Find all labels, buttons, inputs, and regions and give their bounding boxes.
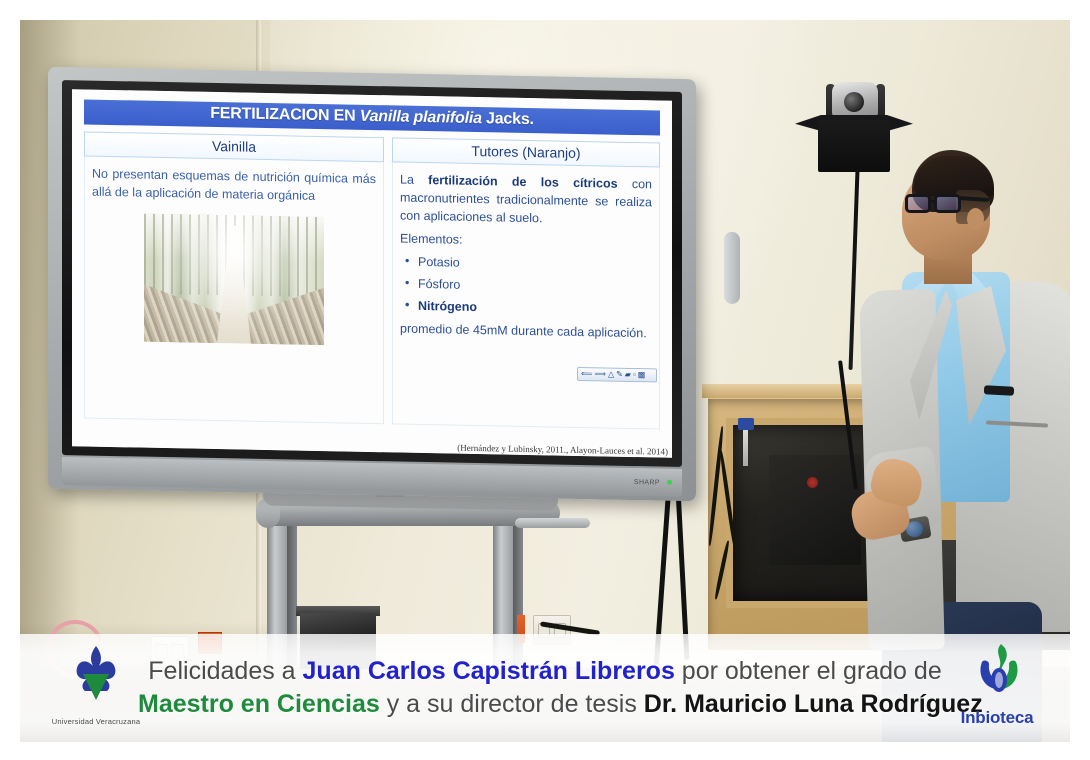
glasses-bridge <box>930 200 936 203</box>
banner-line-1: Felicidades a Juan Carlos Capistrán Libr… <box>138 655 952 688</box>
advisor-name: Dr. Mauricio Luna Rodríguez <box>644 690 983 718</box>
bullet-item: Fósforo <box>400 274 652 297</box>
vanilla-plantation-photo <box>144 214 324 345</box>
pen-icon[interactable]: ✎ <box>616 371 623 379</box>
bullet-item: Potasio <box>400 252 652 275</box>
inbioteca-flame-icon <box>970 642 1026 700</box>
slide-title-pre: FERTILIZACION EN <box>210 105 359 125</box>
elements-bullet-list: Potasio Fósforo Nitrógeno <box>400 252 652 319</box>
uv-logo-caption: Universidad Veracruzana <box>44 717 148 726</box>
universidad-veracruzana-logo: Universidad Veracruzana <box>44 644 148 730</box>
bullet-item: Nitrógeno <box>400 296 652 319</box>
banner-line1-pre: Felicidades a <box>148 657 302 685</box>
degree-name: Maestro en Ciencias <box>138 690 380 718</box>
undo-arrow-icon[interactable]: ⟸ <box>581 370 592 378</box>
column-body-tutores: La fertilización de los cítricos con mac… <box>392 162 660 429</box>
interactive-display[interactable]: FERTILIZACION EN Vanilla planifolia Jack… <box>48 67 696 501</box>
presentation-slide: FERTILIZACION EN Vanilla planifolia Jack… <box>72 89 672 458</box>
student-name: Juan Carlos Capistrán Libreros <box>303 657 675 685</box>
banner-line2-mid: y a su director de tesis <box>380 690 644 718</box>
polycom-logo-dot <box>807 477 818 488</box>
vainilla-paragraph: No presentan esquemas de nutrición quími… <box>92 165 376 207</box>
slide-title-post: Jacks. <box>482 110 534 128</box>
slide-column-tutores: Tutores (Naranjo) La fertilización de lo… <box>392 137 660 429</box>
display-bezel: FERTILIZACION EN Vanilla planifolia Jack… <box>62 80 682 467</box>
slide-two-column-layout: Vainilla No presentan esquemas de nutric… <box>84 131 660 429</box>
inbioteca-logo-caption: Inbioteca <box>942 708 1052 728</box>
elements-label: Elementos: <box>400 230 652 253</box>
congratulations-banner: Universidad Veracruzana Felicidades a Ju… <box>20 634 1070 742</box>
display-power-led <box>667 480 672 485</box>
tutores-closing-text: promedio de 45mM durante cada aplicación… <box>400 319 652 342</box>
display-screen[interactable]: FERTILIZACION EN Vanilla planifolia Jack… <box>72 89 672 458</box>
banner-line-2: Maestro en Ciencias y a su director de t… <box>138 688 952 721</box>
glasses-lens-left <box>905 194 931 213</box>
camera-lens-icon <box>844 92 864 112</box>
display-handle-right <box>724 232 740 304</box>
presentation-photograph: FERTILIZACION EN Vanilla planifolia Jack… <box>20 20 1070 742</box>
polycom-av-unit <box>769 455 861 565</box>
select-icon[interactable]: ▫ <box>633 371 636 379</box>
ear <box>967 208 984 230</box>
photo-overexposure-haze <box>144 214 324 345</box>
presenter <box>858 150 1070 662</box>
column-body-vainilla: No presentan esquemas de nutrición quími… <box>84 156 384 424</box>
pocket-pen <box>984 385 1014 396</box>
photo-frame: FERTILIZACION EN Vanilla planifolia Jack… <box>0 0 1090 760</box>
stand-rail-secondary <box>515 518 590 528</box>
display-brand-label: SHARP <box>634 479 660 487</box>
slide-citation: (Hernández y Lubinsky, 2011., Alayon-Lau… <box>72 435 668 456</box>
banner-line1-post: por obtener el grado de <box>675 657 942 685</box>
glasses-lens-right <box>934 194 961 213</box>
banner-text-block: Felicidades a Juan Carlos Capistrán Libr… <box>138 634 952 742</box>
redo-arrow-icon[interactable]: ⟹ <box>594 370 605 378</box>
lead-pre: La <box>400 173 428 188</box>
slide-column-vanilla: Vainilla No presentan esquemas de nutric… <box>84 131 384 424</box>
slide-title-species: Vanilla planifolia <box>360 108 482 127</box>
tutores-lead-paragraph: La fertilización de los cítricos con mac… <box>400 171 652 230</box>
inbioteca-logo: Inbioteca <box>942 642 1052 734</box>
fleur-de-lis-icon <box>66 646 126 702</box>
vga-connector <box>738 418 754 430</box>
hair-top <box>914 156 994 196</box>
slide-annotation-toolbar[interactable]: ⟸ ⟹ △ ✎ ▰ ▫ ▩ <box>577 367 657 383</box>
slide-title: FERTILIZACION EN Vanilla planifolia Jack… <box>84 99 660 135</box>
lead-bold: fertilización de los cítricos <box>428 173 617 191</box>
settings-icon[interactable]: ▩ <box>638 371 646 379</box>
keyboard-icon[interactable]: ▰ <box>625 371 631 379</box>
eraser-icon[interactable]: △ <box>608 371 614 379</box>
cable-hanging <box>743 430 748 466</box>
